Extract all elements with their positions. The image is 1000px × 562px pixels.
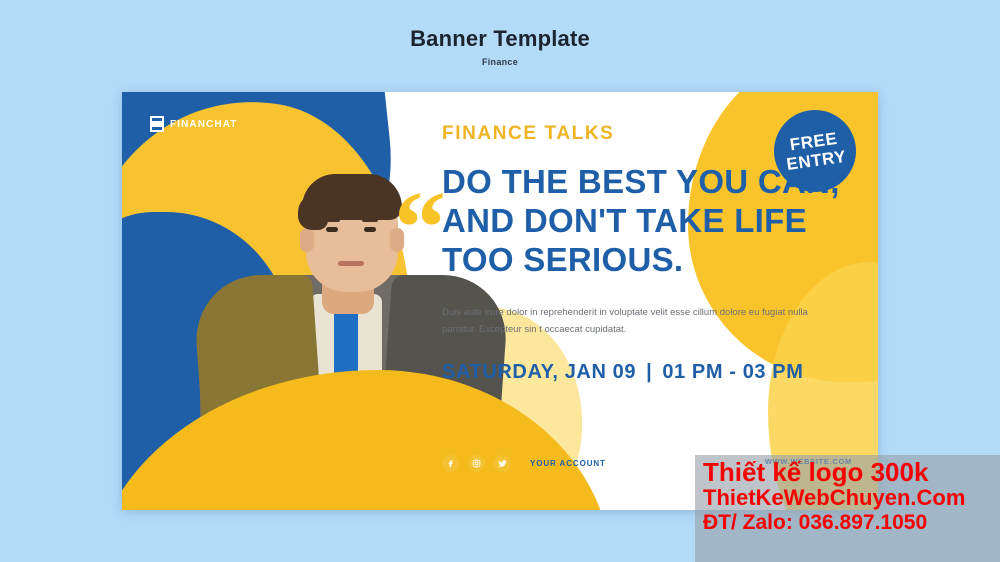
watermark-line-1: Thiết kế logo 300k bbox=[703, 458, 1000, 486]
brand-name: FINANCHAT bbox=[170, 119, 237, 130]
watermark-overlay: Thiết kế logo 300k ThietKeWebChuyen.Com … bbox=[695, 455, 1000, 562]
watermark-line-2: ThietKeWebChuyen.Com bbox=[703, 486, 1000, 511]
event-schedule: SATURDAY, JAN 09|01 PM - 03 PM bbox=[442, 361, 842, 384]
event-time: 01 PM - 03 PM bbox=[662, 361, 803, 383]
twitter-icon[interactable] bbox=[494, 455, 511, 472]
your-account-link[interactable]: YOUR ACCOUNT bbox=[530, 459, 606, 468]
headline-line-2: AND DON'T TAKE LIFE bbox=[442, 202, 842, 241]
page-title: Banner Template bbox=[0, 26, 1000, 52]
watermark-line-3: ĐT/ Zalo: 036.897.1050 bbox=[703, 511, 1000, 535]
stacked-bars-logo-icon bbox=[150, 116, 164, 132]
headline-line-3: TOO SERIOUS. bbox=[442, 241, 842, 280]
banner-card[interactable]: FINANCHAT FREE ENTRY “ FINANCE TALKS DO … bbox=[122, 92, 878, 510]
event-separator: | bbox=[636, 361, 662, 383]
page-subtitle: Finance bbox=[0, 57, 1000, 67]
brand-logo[interactable]: FINANCHAT bbox=[150, 116, 237, 132]
screenshot-canvas: Banner Template Finance bbox=[0, 0, 1000, 562]
body-paragraph: Duis aute irure dolor in reprehenderit i… bbox=[442, 304, 840, 339]
headline: DO THE BEST YOU CAN, AND DON'T TAKE LIFE… bbox=[442, 163, 842, 280]
banner-footer: YOUR ACCOUNT bbox=[442, 455, 606, 472]
quotation-mark-icon: “ bbox=[394, 176, 446, 280]
instagram-icon[interactable] bbox=[468, 455, 485, 472]
facebook-icon[interactable] bbox=[442, 455, 459, 472]
event-date: SATURDAY, JAN 09 bbox=[442, 361, 636, 383]
